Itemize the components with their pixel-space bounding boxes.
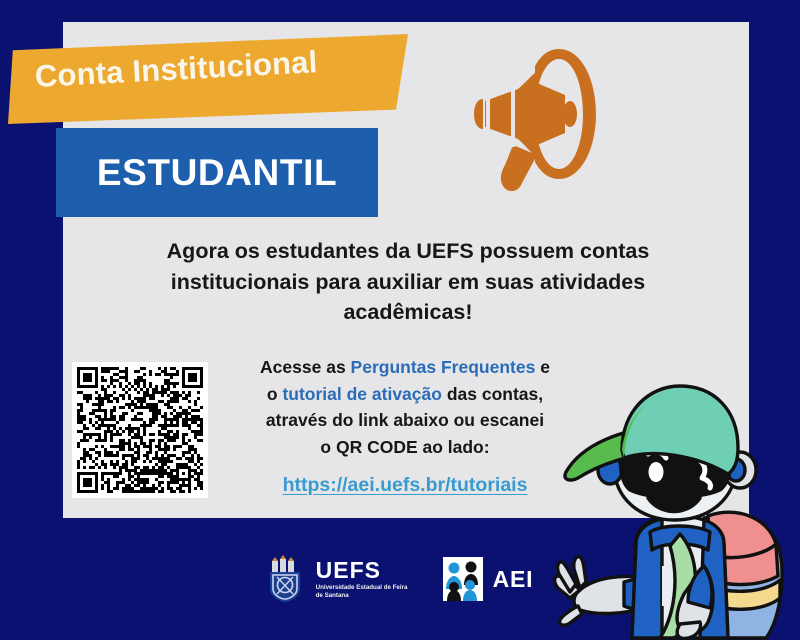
link-perguntas-frequentes[interactable]: Perguntas Frequentes — [351, 357, 536, 377]
uefs-crest-icon — [267, 555, 307, 603]
link-tutorial-ativacao[interactable]: tutorial de ativação — [282, 384, 442, 404]
body-line3: através do link abaixo ou escanei — [266, 410, 544, 430]
megaphone-icon — [455, 35, 655, 195]
qr-code-canvas — [77, 367, 203, 493]
aei-people-icon — [442, 555, 484, 603]
headline-text: Agora os estudantes da UEFS possuem cont… — [118, 236, 698, 328]
aei-logo-group: AEI — [442, 555, 534, 603]
title-banner-bottom-label: ESTUDANTIL — [56, 128, 378, 217]
qr-code-image[interactable] — [72, 362, 208, 498]
robot-mascot-illustration — [528, 366, 800, 640]
uefs-logo-group: UEFS Universidade Estadual de Feira de S… — [267, 555, 408, 603]
body-line1-pre: Acesse as — [260, 357, 351, 377]
uefs-name: UEFS — [316, 559, 408, 582]
uefs-subtitle: Universidade Estadual de Feira de Santan… — [316, 584, 408, 599]
body-line4: o QR CODE ao lado: — [320, 437, 489, 457]
title-banner-bottom: ESTUDANTIL — [56, 128, 378, 217]
body-line2-pre: o — [267, 384, 283, 404]
uefs-wordmark: UEFS Universidade Estadual de Feira de S… — [316, 559, 408, 599]
poster-canvas: Conta Institucional ESTUDANTIL Agora os … — [0, 0, 800, 640]
